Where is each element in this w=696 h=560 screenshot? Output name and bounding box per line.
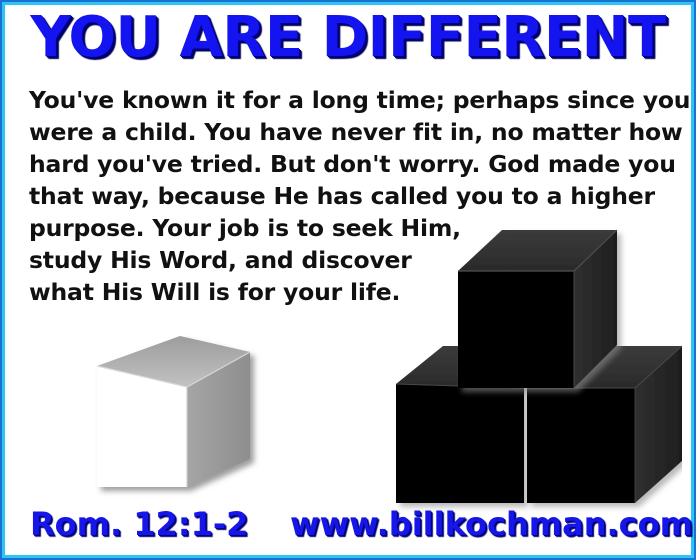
footer: Rom. 12:1-2 www.billkochman.com bbox=[0, 504, 696, 552]
scripture-reference: Rom. 12:1-2 bbox=[30, 504, 248, 544]
body-line: You've known it for a long time; perhaps… bbox=[29, 84, 679, 116]
black-cube-stack-illustration bbox=[382, 218, 682, 513]
website-url[interactable]: www.billkochman.com bbox=[290, 504, 693, 544]
poster-content: YOU ARE DIFFERENT You've known it for a … bbox=[0, 0, 696, 560]
black-cube-top bbox=[458, 230, 617, 388]
body-line: that way, because He has called you to a… bbox=[29, 180, 679, 212]
body-line: hard you've tried. But don't worry. God … bbox=[29, 148, 679, 180]
page-title: YOU ARE DIFFERENT bbox=[0, 6, 696, 70]
black-cube-front-face bbox=[396, 384, 524, 503]
black-cube-front-face bbox=[458, 271, 574, 388]
white-cube-body bbox=[97, 336, 250, 487]
black-cube-front-face bbox=[527, 388, 635, 503]
single-white-cube-illustration bbox=[80, 335, 270, 510]
poster-canvas: YOU ARE DIFFERENT You've known it for a … bbox=[0, 0, 696, 560]
body-line: were a child. You have never fit in, no … bbox=[29, 116, 679, 148]
